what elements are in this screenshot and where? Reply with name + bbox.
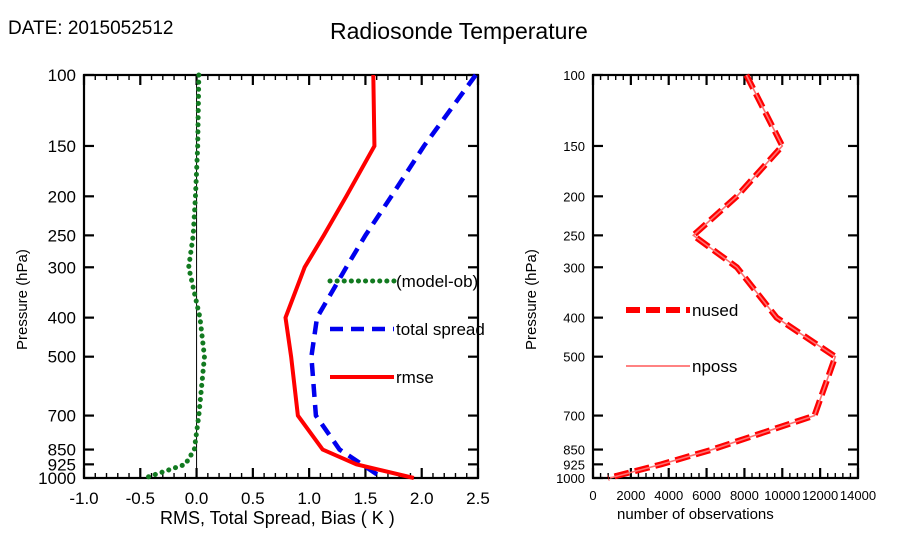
left-y-tick-label: 400 — [48, 309, 76, 328]
right-x-tick-label: 2000 — [616, 488, 645, 503]
right-y-tick-label: 200 — [563, 189, 585, 204]
right-y-tick-label: 700 — [563, 409, 585, 424]
radiosonde-temperature-figure: DATE: 2015052512 Radiosonde Temperature … — [0, 0, 900, 560]
left-y-tick-label: 700 — [48, 407, 76, 426]
right-x-tick-label: 8000 — [730, 488, 759, 503]
right-x-tick-label: 6000 — [692, 488, 721, 503]
right-x-tick-label: 12000 — [802, 488, 838, 503]
right-legend-label: nposs — [692, 357, 737, 376]
right-legend: nusednposs — [626, 301, 738, 376]
left-legend-label: (model-ob) — [396, 272, 478, 291]
right-y-tick-label: 500 — [563, 350, 585, 365]
right-panel: 0200040006000800010000120001400010015020… — [556, 68, 876, 503]
left-series-modelob — [145, 75, 205, 478]
left-x-tick-label: 1.5 — [354, 489, 378, 508]
left-series-rmse — [286, 75, 414, 478]
right-y-tick-label: 100 — [563, 68, 585, 83]
left-x-tick-label: 2.0 — [410, 489, 434, 508]
left-y-tick-label: 150 — [48, 137, 76, 156]
right-y-tick-label: 1000 — [556, 471, 585, 486]
left-y-tick-label: 300 — [48, 258, 76, 277]
left-x-tick-label: 0.5 — [241, 489, 265, 508]
right-x-tick-label: 0 — [589, 488, 596, 503]
right-y-tick-label: 300 — [563, 260, 585, 275]
left-legend-label: total spread — [396, 320, 485, 339]
left-legend-label: rmse — [396, 368, 434, 387]
left-y-tick-label: 200 — [48, 187, 76, 206]
right-y-tick-label: 850 — [563, 443, 585, 458]
left-y-tick-label: 500 — [48, 348, 76, 367]
left-legend: (model-ob)total spreadrmse — [330, 272, 485, 387]
right-x-tick-label: 4000 — [654, 488, 683, 503]
left-x-tick-label: -1.0 — [69, 489, 98, 508]
plot-canvas: -1.0-0.50.00.51.01.52.02.510015020025030… — [0, 0, 900, 560]
right-plot-frame — [593, 75, 858, 478]
right-x-tick-label: 14000 — [840, 488, 876, 503]
left-y-tick-label: 100 — [48, 66, 76, 85]
left-x-tick-label: 0.0 — [185, 489, 209, 508]
right-y-tick-label: 250 — [563, 228, 585, 243]
left-x-tick-label: 1.0 — [297, 489, 321, 508]
right-y-tick-label: 400 — [563, 311, 585, 326]
right-x-tick-label: 10000 — [764, 488, 800, 503]
right-series-nused — [608, 75, 835, 478]
left-y-tick-label: 250 — [48, 226, 76, 245]
right-y-tick-label: 150 — [563, 139, 585, 154]
left-x-tick-label: 2.5 — [466, 489, 490, 508]
right-legend-label: nused — [692, 301, 738, 320]
left-y-tick-label: 1000 — [38, 469, 76, 488]
left-x-tick-label: -0.5 — [126, 489, 155, 508]
